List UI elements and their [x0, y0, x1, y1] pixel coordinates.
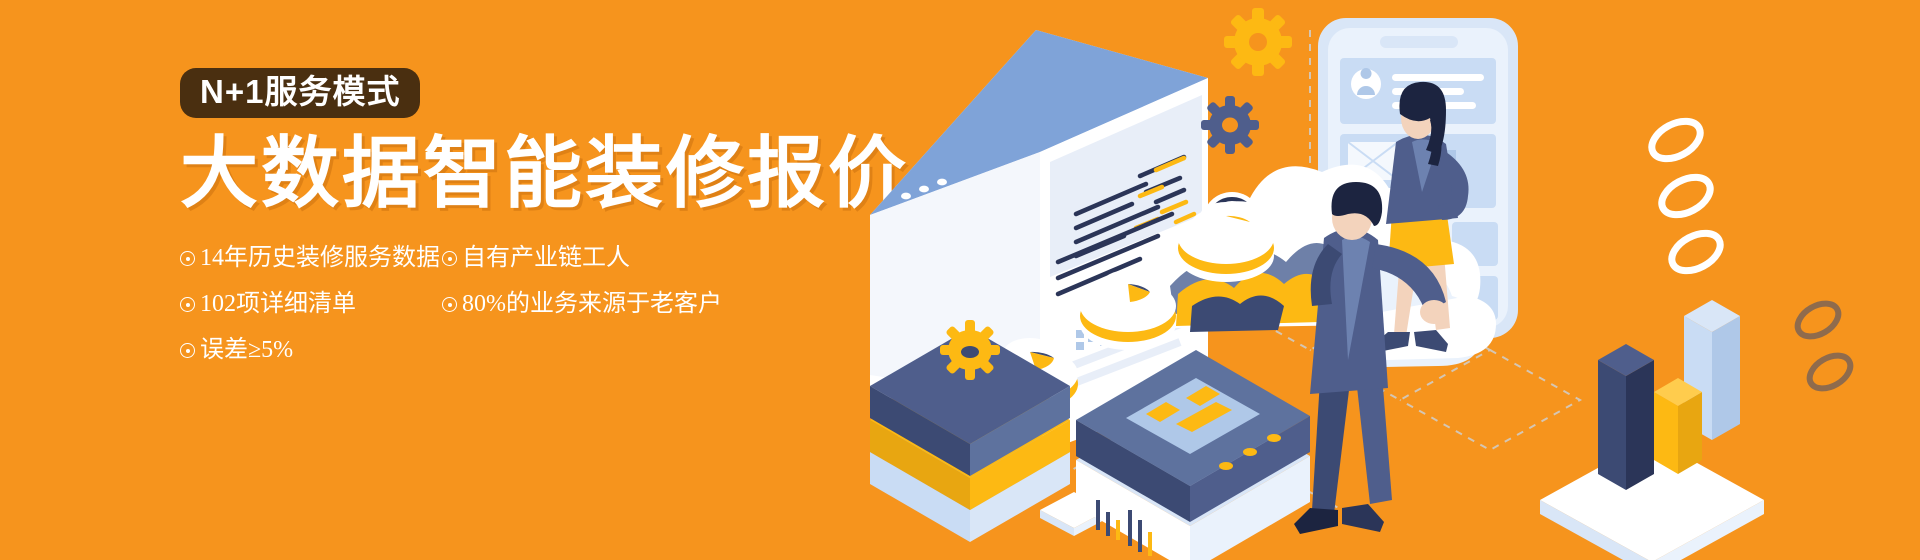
- list-item: 自有产业链工人: [442, 246, 742, 270]
- circle-dot-icon: [442, 251, 457, 266]
- list-item: 14年历史装修服务数据: [180, 246, 442, 270]
- bar-chart-podium: [1540, 300, 1764, 560]
- isometric-big-data-illustration: [840, 0, 1920, 560]
- service-model-badge: N+1服务模式: [180, 68, 420, 118]
- feature-list-left-column: 14年历史装修服务数据 102项详细清单 误差≥5%: [180, 246, 442, 384]
- bar-navy: [1598, 344, 1654, 490]
- page-title: 大数据智能装修报价: [180, 134, 840, 212]
- banner-copy-block: N+1服务模式 大数据智能装修报价 14年历史装修服务数据 102项详细清单 误…: [180, 68, 840, 384]
- list-item: 102项详细清单: [180, 292, 442, 316]
- list-item-label: 误差≥5%: [200, 337, 293, 363]
- list-item: 误差≥5%: [180, 338, 442, 362]
- circle-dot-icon: [442, 297, 457, 312]
- list-item: 80%的业务来源于老客户: [442, 292, 742, 316]
- promo-banner: N+1服务模式 大数据智能装修报价 14年历史装修服务数据 102项详细清单 误…: [0, 0, 1920, 560]
- gear-icon-blue: [1201, 96, 1259, 154]
- list-item-label: 102项详细清单: [200, 291, 356, 317]
- list-item-label: 14年历史装修服务数据: [200, 245, 440, 271]
- circle-dot-icon: [180, 343, 195, 358]
- bar-yellow: [1654, 378, 1702, 474]
- decorative-rings: [1646, 114, 1727, 279]
- gear-icon-yellow: [1224, 8, 1292, 76]
- list-item-label: 80%的业务来源于老客户: [462, 291, 722, 317]
- decorative-rings-blue: [1792, 297, 1856, 395]
- list-item-label: 自有产业链工人: [462, 245, 630, 271]
- gear-icon-yellow: [940, 320, 1000, 380]
- circle-dot-icon: [180, 251, 195, 266]
- circle-dot-icon: [180, 297, 195, 312]
- feature-list: 14年历史装修服务数据 102项详细清单 误差≥5% 自有产业链工人 80%的业…: [180, 246, 840, 384]
- feature-list-right-column: 自有产业链工人 80%的业务来源于老客户: [442, 246, 742, 384]
